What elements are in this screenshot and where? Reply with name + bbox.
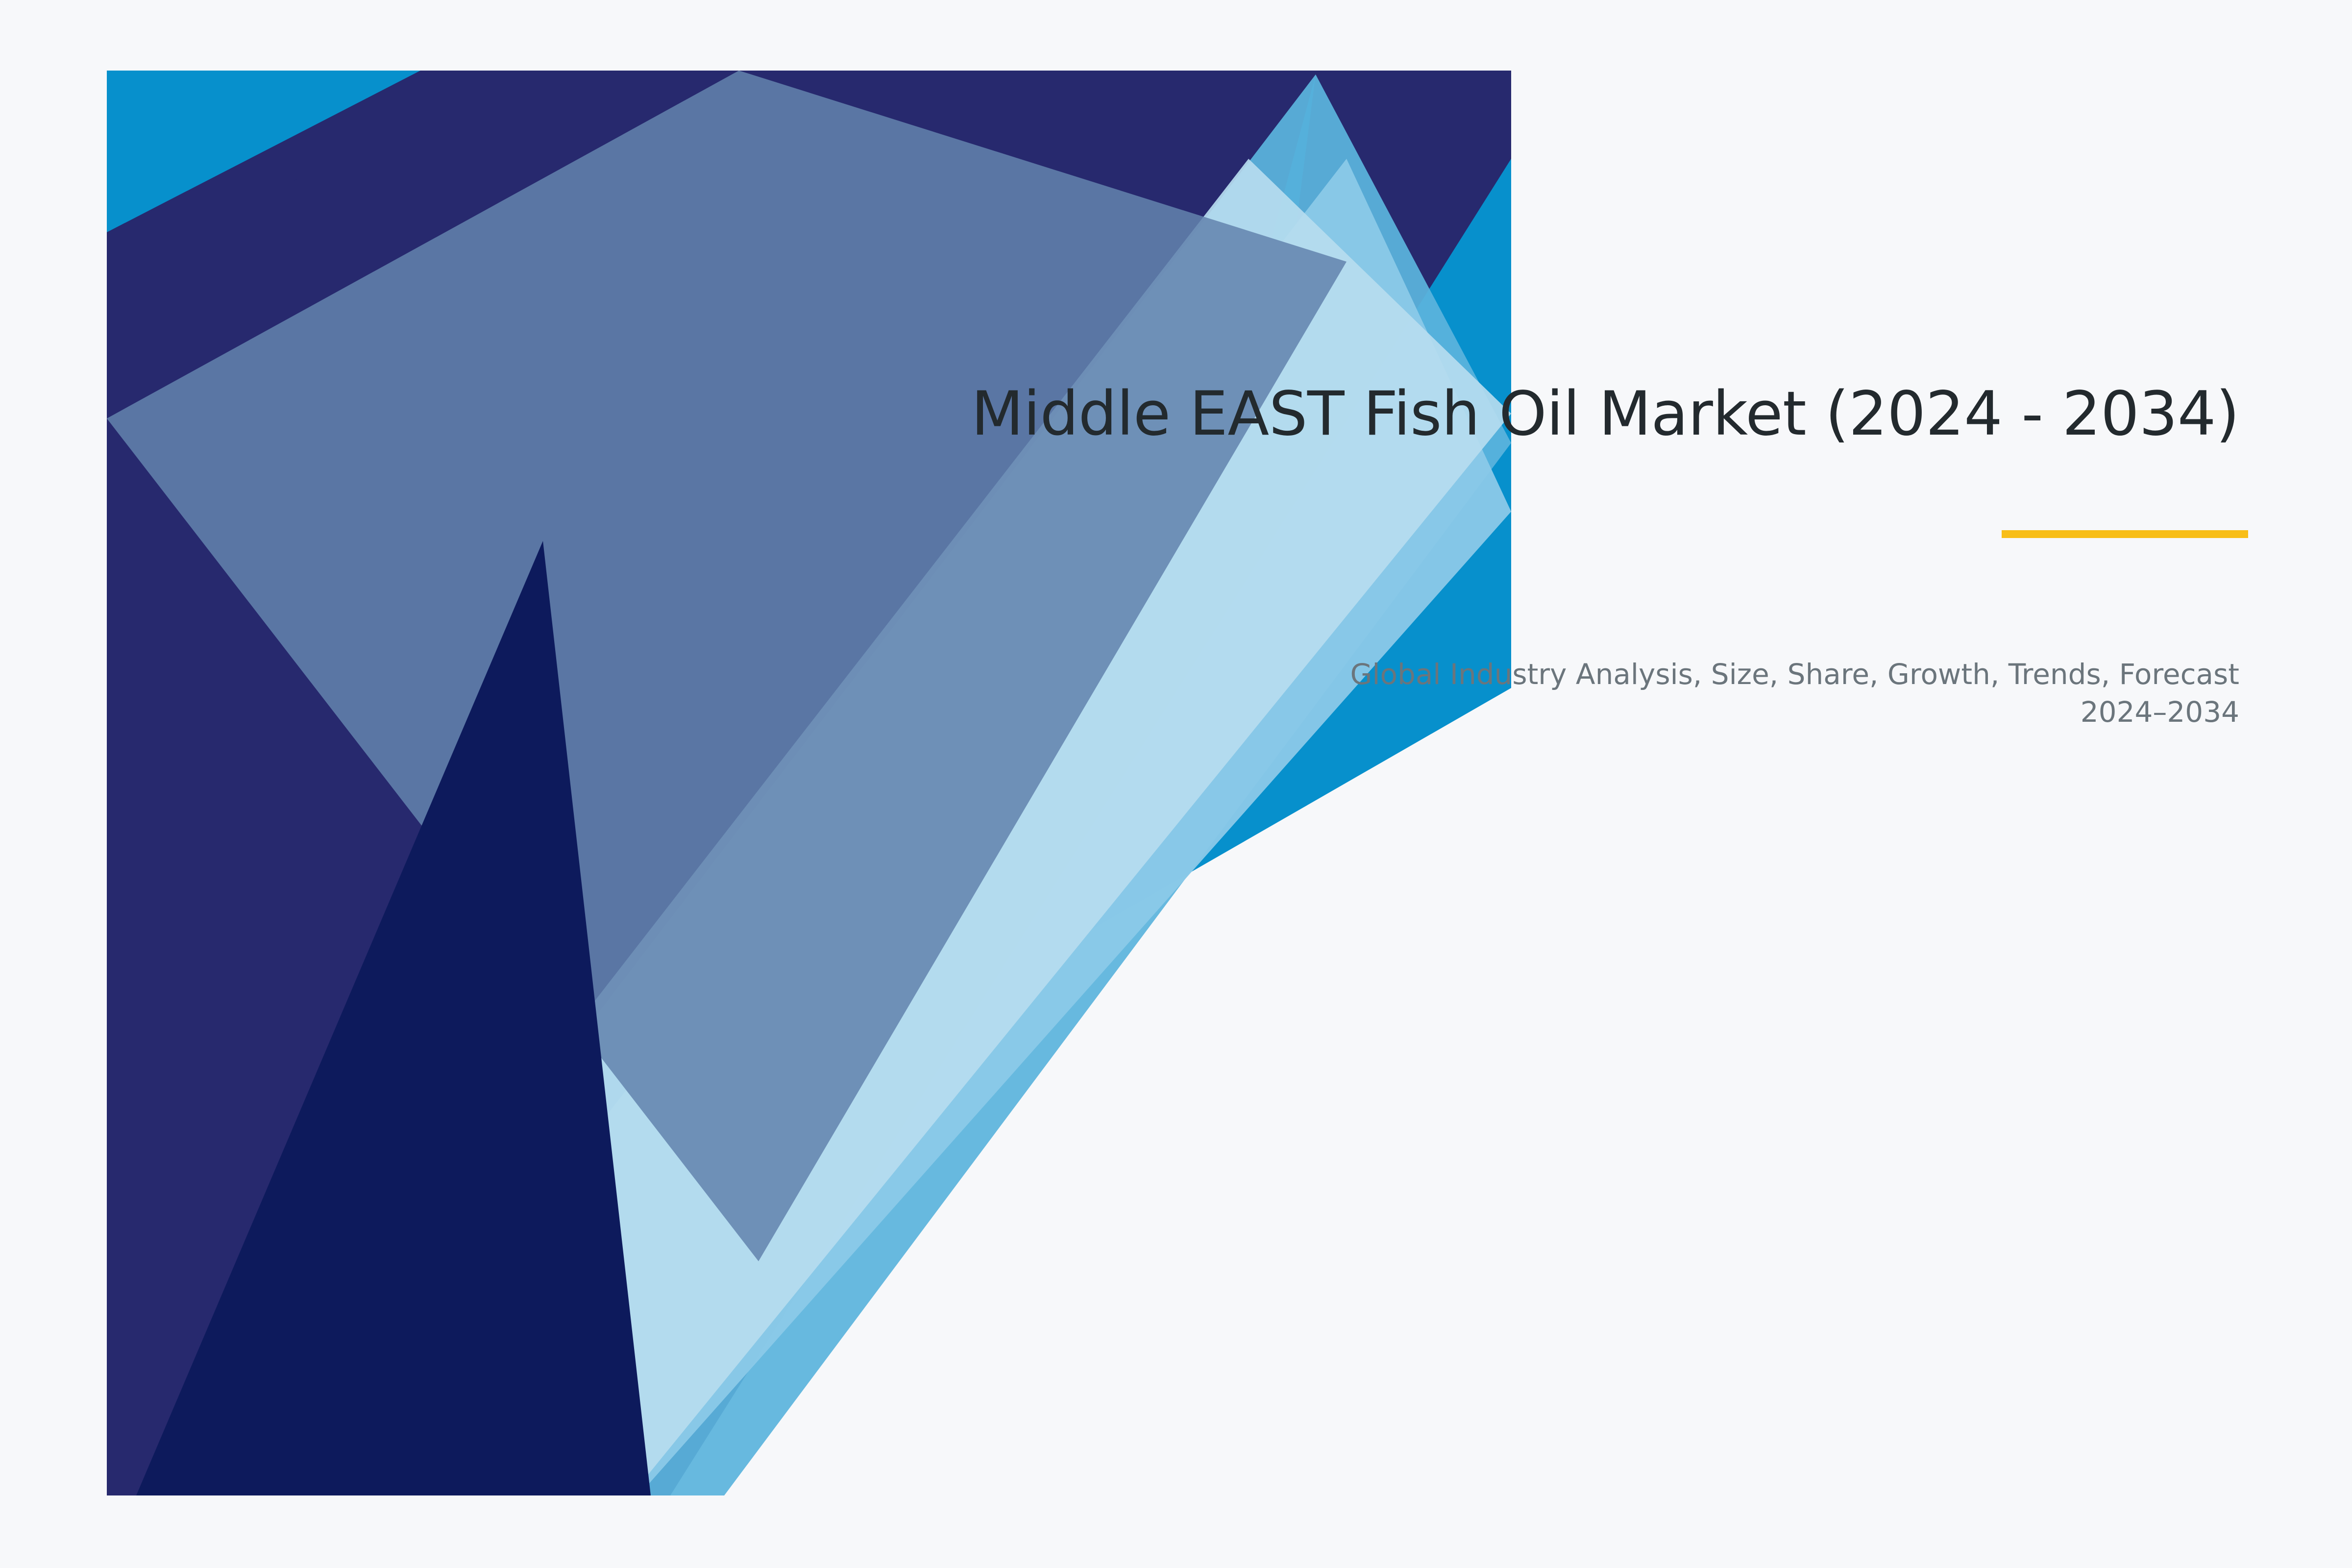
page-title: Middle EAST Fish Oil Market (2024 - 2034… [784,377,2239,451]
page-subtitle: Global Industry Analysis, Size, Share, G… [1274,656,2239,731]
abstract-polygon-graphic [107,71,1511,1495]
title-accent-underline [2002,530,2248,538]
decorative-artwork [107,71,1511,1495]
title-block: Middle EAST Fish Oil Market (2024 - 2034… [784,377,2239,451]
title-slide: Middle EAST Fish Oil Market (2024 - 2034… [0,0,2352,1568]
